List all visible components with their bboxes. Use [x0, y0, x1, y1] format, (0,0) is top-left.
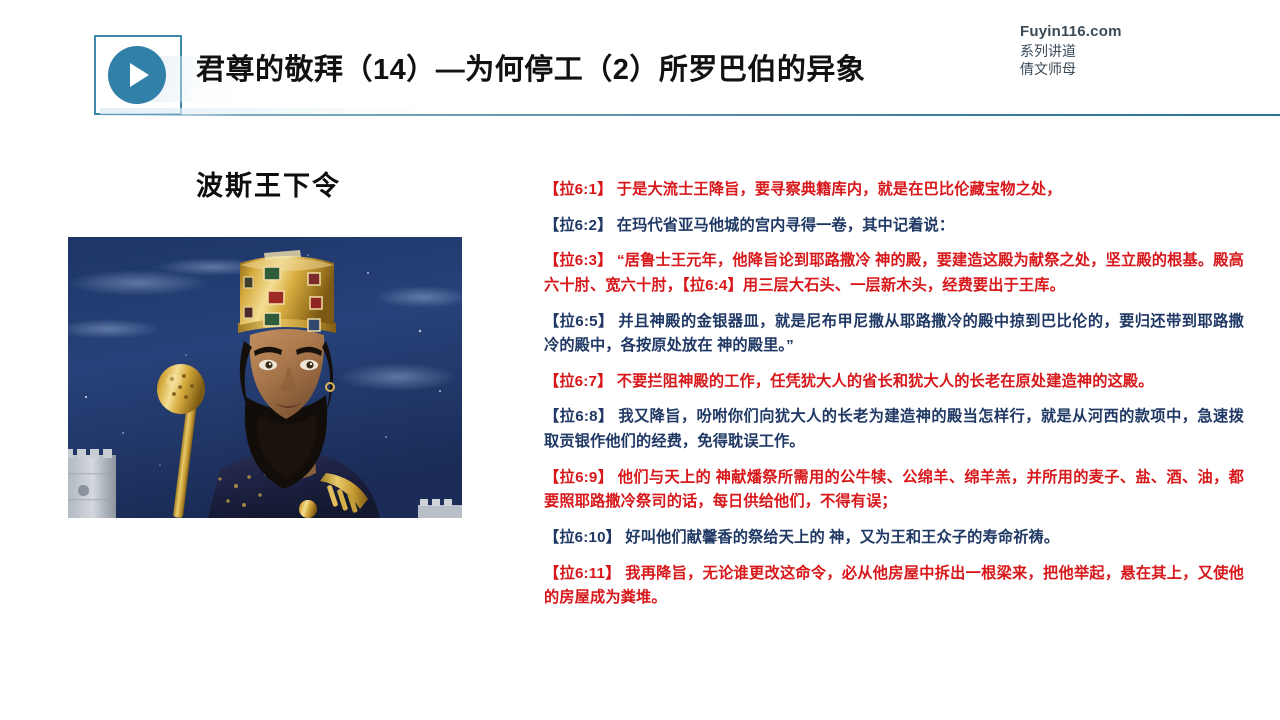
verse-paragraph: 【拉6:7】 不要拦阻神殿的工作，任凭犹大人的省长和犹大人的长老在原处建造神的这… — [544, 370, 1244, 395]
verse-ref: 【拉6:3】 — [544, 252, 613, 269]
brand-speaker-label: 倩文师母 — [1020, 60, 1250, 78]
king-crown — [238, 250, 336, 333]
verse-text: 并且神殿的金银器皿，就是尼布甲尼撒从耶路撒冷的殿中掠到巴比伦的，要归还带到耶路撒… — [544, 313, 1244, 355]
verse-text: 于是大流士王降旨，要寻察典籍库内，就是在巴比伦藏宝物之处， — [617, 181, 1062, 198]
verse-text: 好叫他们献馨香的祭给天上的 神，又为王和王众子的寿命祈祷。 — [625, 529, 1059, 546]
verse-paragraph: 【拉6:3】 “居鲁士王元年，他降旨论到耶路撒冷 神的殿，要建造这殿为献祭之处，… — [544, 249, 1244, 298]
verse-paragraph: 【拉6:11】 我再降旨，无论谁更改这命令，必从他房屋中拆出一根梁来，把他举起，… — [544, 562, 1244, 611]
page-title: 君尊的敬拜（14）—为何停工（2）所罗巴伯的异象 — [196, 46, 966, 88]
verse-paragraph: 【拉6:10】 好叫他们献馨香的祭给天上的 神，又为王和王众子的寿命祈祷。 — [544, 526, 1244, 551]
brand-site-name: Fuyin116.com — [1020, 22, 1250, 42]
verse-paragraph: 【拉6:5】 并且神殿的金银器皿，就是尼布甲尼撒从耶路撒冷的殿中掠到巴比伦的，要… — [544, 310, 1244, 359]
verse-ref: 【拉6:7】 — [544, 373, 612, 390]
verse-text: “居鲁士王元年，他降旨论到耶路撒冷 神的殿，要建造这殿为献祭之处，坚立殿的根基。… — [544, 252, 1244, 294]
verse-ref: 【拉6:9】 — [544, 469, 613, 486]
brand-series-label: 系列讲道 — [1020, 42, 1250, 60]
play-triangle-icon — [130, 63, 149, 87]
verse-text: 我再降旨，无论谁更改这命令，必从他房屋中拆出一根梁来，把他举起，悬在其上，又使他… — [544, 565, 1244, 607]
verse-ref: 【拉6:11】 — [544, 565, 621, 582]
verse-paragraph: 【拉6:9】 他们与天上的 神献燔祭所需用的公牛犊、公绵羊、绵羊羔，并所用的麦子… — [544, 466, 1244, 515]
verse-text: 在玛代省亚马他城的宫内寻得一卷，其中记着说： — [617, 217, 954, 234]
play-button-icon[interactable] — [108, 46, 166, 104]
header-divider — [100, 114, 1280, 116]
section-heading: 波斯王下令 — [196, 164, 341, 203]
verse-paragraph: 【拉6:1】 于是大流士王降旨，要寻察典籍库内，就是在巴比伦藏宝物之处， — [544, 178, 1244, 203]
verse-text: 他们与天上的 神献燔祭所需用的公牛犊、公绵羊、绵羊羔，并所用的麦子、盐、酒、油，… — [544, 469, 1244, 511]
persian-king-painting — [68, 237, 462, 518]
verse-ref: 【拉6:1】 — [544, 181, 612, 198]
verse-text: 不要拦阻神殿的工作，任凭犹大人的省长和犹大人的长老在原处建造神的这殿。 — [617, 373, 1154, 390]
slide-header: 君尊的敬拜（14）—为何停工（2）所罗巴伯的异象 Fuyin116.com 系列… — [0, 0, 1280, 130]
verse-ref: 【拉6:8】 — [544, 408, 614, 425]
verse-paragraph: 【拉6:2】 在玛代省亚马他城的宫内寻得一卷，其中记着说： — [544, 214, 1244, 239]
brand-block: Fuyin116.com 系列讲道 倩文师母 — [1020, 22, 1250, 79]
persian-king-illustration — [68, 237, 462, 518]
verse-ref: 【拉6:2】 — [544, 217, 612, 234]
scripture-column: 【拉6:1】 于是大流士王降旨，要寻察典籍库内，就是在巴比伦藏宝物之处， 【拉6… — [544, 178, 1244, 622]
verse-paragraph: 【拉6:8】 我又降旨，吩咐你们向犹大人的长老为建造神的殿当怎样行，就是从河西的… — [544, 405, 1244, 454]
verse-ref: 【拉6:10】 — [544, 529, 621, 546]
verse-text: 我又降旨，吩咐你们向犹大人的长老为建造神的殿当怎样行，就是从河西的款项中，急速拨… — [544, 408, 1244, 450]
verse-ref: 【拉6:5】 — [544, 313, 614, 330]
stone-tower — [68, 449, 116, 518]
